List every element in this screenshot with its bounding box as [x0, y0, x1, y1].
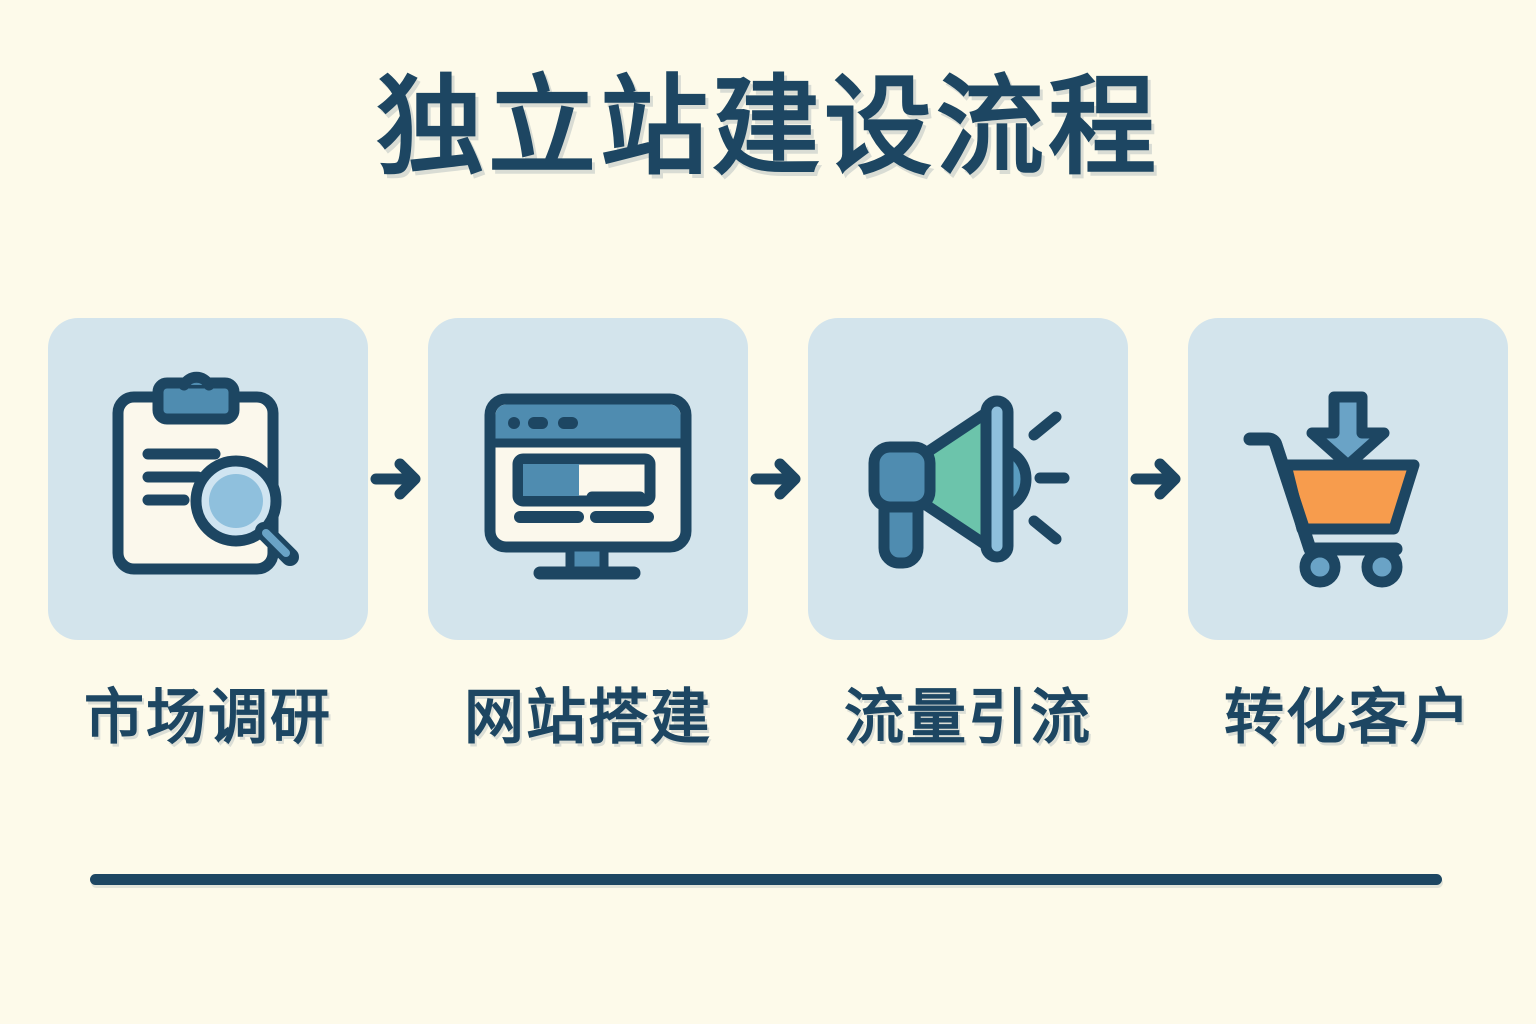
- process-flow-row: [48, 318, 1488, 640]
- step-label-traffic: 流量引流: [808, 679, 1128, 757]
- arrow-right-icon-2: [748, 449, 808, 509]
- page-title: 独立站建设流程: [0, 62, 1536, 192]
- arrow-right-icon-1: [368, 449, 428, 509]
- infographic-canvas: 独立站建设流程: [0, 0, 1536, 1024]
- step-card-traffic[interactable]: [808, 318, 1128, 640]
- monitor-website-icon: [468, 359, 708, 599]
- label-slot-1: 市场调研: [48, 679, 368, 757]
- step-card-market-research[interactable]: [48, 318, 368, 640]
- step-label-conversion: 转化客户: [1188, 679, 1508, 757]
- label-slot-4: 转化客户: [1188, 679, 1508, 757]
- label-slot-3: 流量引流: [808, 679, 1128, 757]
- clipboard-magnifier-icon: [88, 359, 328, 599]
- step-labels-row: 市场调研 网站搭建 流量引流 转化客户: [48, 668, 1488, 768]
- bottom-divider: [90, 874, 1442, 885]
- step-card-conversion[interactable]: [1188, 318, 1508, 640]
- arrow-right-icon-3: [1128, 449, 1188, 509]
- megaphone-icon: [848, 359, 1088, 599]
- shopping-cart-download-icon: [1228, 359, 1468, 599]
- step-card-website-build[interactable]: [428, 318, 748, 640]
- label-slot-2: 网站搭建: [428, 679, 748, 757]
- step-label-market-research: 市场调研: [48, 679, 368, 757]
- step-label-website-build: 网站搭建: [428, 679, 748, 757]
